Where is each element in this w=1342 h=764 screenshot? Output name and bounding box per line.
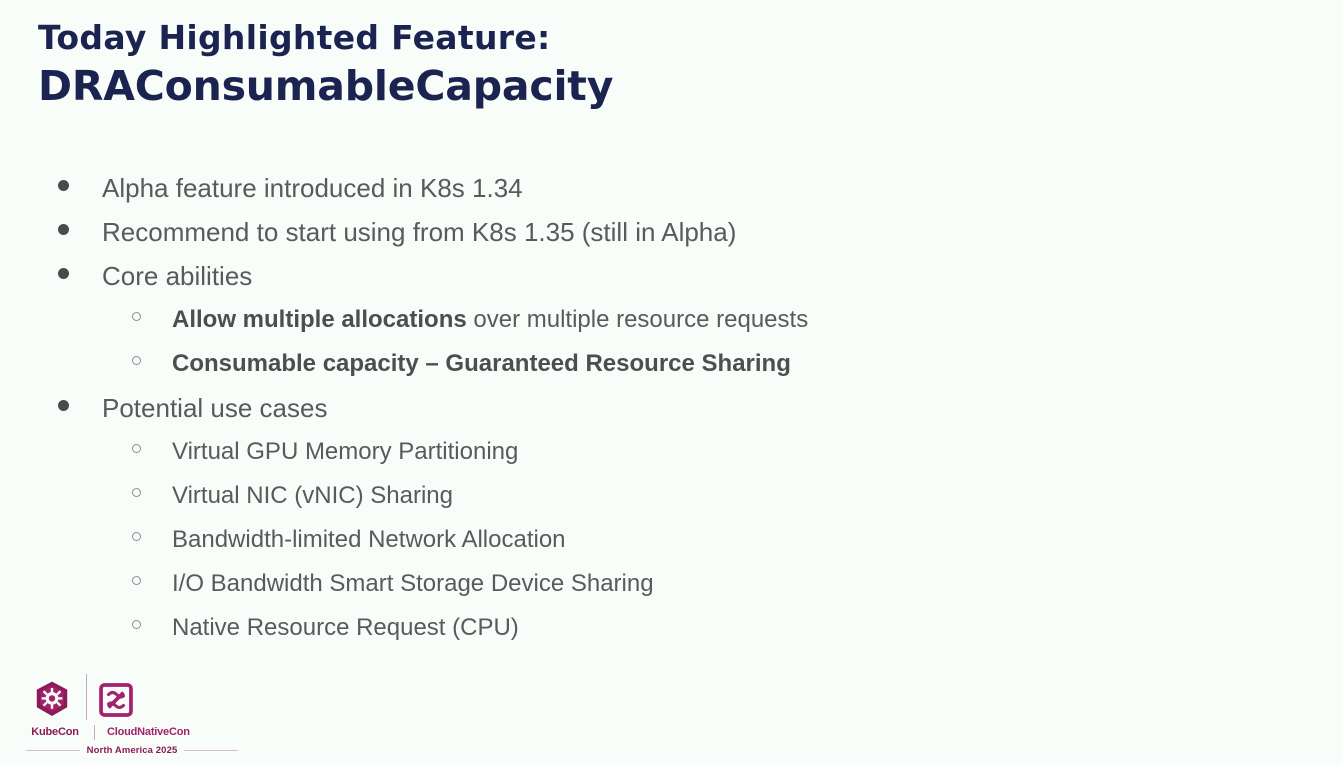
bullet-circle-icon: [132, 312, 141, 321]
bullet-circle-icon: [132, 532, 141, 541]
bullet-circle-icon: [132, 576, 141, 585]
slide-title: Today Highlighted Feature: DRAConsumable…: [38, 16, 613, 112]
sub-bullet-emphasis: Consumable capacity – Guaranteed Resourc…: [172, 350, 791, 377]
bullet-disc-icon: [58, 268, 69, 279]
kubernetes-helm-icon: [32, 680, 72, 720]
bullet-text: Alpha feature introduced in K8s 1.34: [102, 166, 523, 210]
sub-bullet-item: Virtual NIC (vNIC) Sharing: [0, 474, 1342, 518]
event-region: North America 2025: [26, 745, 238, 756]
sub-bullet-text: I/O Bandwidth Smart Storage Device Shari…: [172, 562, 654, 606]
rule-left: [26, 750, 80, 751]
bullet-item: Potential use cases: [0, 386, 1342, 430]
sub-bullet-item: I/O Bandwidth Smart Storage Device Shari…: [0, 562, 1342, 606]
sub-bullet-text: Allow multiple allocations over multiple…: [172, 298, 808, 342]
sub-bullet-item: Native Resource Request (CPU): [0, 606, 1342, 650]
bullet-item: Core abilities: [0, 254, 1342, 298]
event-footer: KubeCon CloudNativeCon North America 202…: [26, 668, 256, 754]
sub-bullet-item: Allow multiple allocations over multiple…: [0, 298, 1342, 342]
bullet-text: Core abilities: [102, 254, 252, 298]
region-label: North America 2025: [80, 745, 185, 756]
title-line-2: DRAConsumableCapacity: [38, 60, 613, 112]
sub-bullet-text: Virtual NIC (vNIC) Sharing: [172, 474, 453, 518]
bullet-item: Alpha feature introduced in K8s 1.34: [0, 166, 1342, 210]
cloudnativecon-label: CloudNativeCon: [107, 726, 190, 738]
sub-bullet-text: Bandwidth-limited Network Allocation: [172, 518, 566, 562]
brand-names: KubeCon CloudNativeCon: [26, 724, 256, 740]
rule-right: [184, 750, 238, 751]
sub-bullet-item: Consumable capacity – Guaranteed Resourc…: [0, 342, 1342, 386]
bullet-list: Alpha feature introduced in K8s 1.34 Rec…: [0, 166, 1342, 650]
bullet-circle-icon: [132, 620, 141, 629]
bullet-text: Recommend to start using from K8s 1.35 (…: [102, 210, 736, 254]
sub-bullet-item: Virtual GPU Memory Partitioning: [0, 430, 1342, 474]
name-divider: [94, 725, 95, 740]
logo-divider: [86, 674, 87, 720]
slide-canvas: Today Highlighted Feature: DRAConsumable…: [0, 0, 1342, 764]
kubecon-label: KubeCon: [26, 726, 84, 738]
bullet-circle-icon: [132, 444, 141, 453]
sub-bullet-text: Virtual GPU Memory Partitioning: [172, 430, 518, 474]
sub-bullet-rest: over multiple resource requests: [467, 306, 808, 333]
cloudnativecon-icon: [99, 683, 133, 717]
logo-row: [26, 668, 256, 720]
sub-bullet-emphasis: Allow multiple allocations: [172, 306, 467, 333]
sub-bullet-text: Native Resource Request (CPU): [172, 606, 519, 650]
bullet-text: Potential use cases: [102, 386, 327, 430]
bullet-circle-icon: [132, 488, 141, 497]
bullet-disc-icon: [58, 180, 69, 191]
bullet-disc-icon: [58, 224, 69, 235]
title-line-1: Today Highlighted Feature:: [38, 16, 613, 60]
bullet-item: Recommend to start using from K8s 1.35 (…: [0, 210, 1342, 254]
bullet-disc-icon: [58, 400, 69, 411]
sub-bullet-item: Bandwidth-limited Network Allocation: [0, 518, 1342, 562]
sub-bullet-text: Consumable capacity – Guaranteed Resourc…: [172, 342, 791, 386]
bullet-circle-icon: [132, 356, 141, 365]
